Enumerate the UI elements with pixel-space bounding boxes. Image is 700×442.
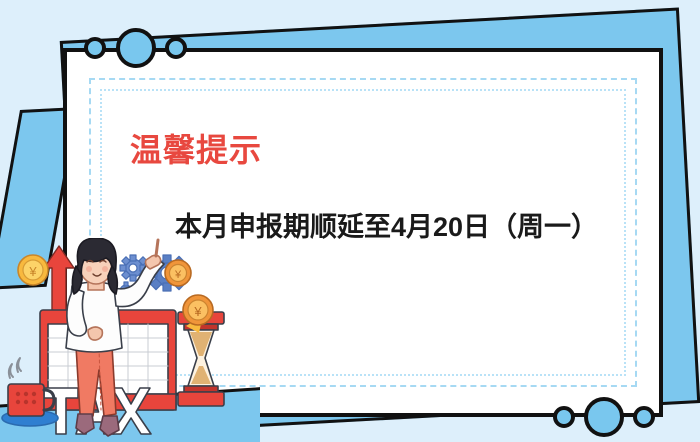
svg-text:¥: ¥ bbox=[174, 269, 182, 281]
svg-text:¥: ¥ bbox=[193, 304, 202, 319]
top-left-dot-small-2 bbox=[165, 37, 187, 59]
bottom-right-dot-large bbox=[584, 397, 624, 437]
bottom-right-dot-small-2 bbox=[633, 406, 655, 428]
bottom-right-dot-small bbox=[553, 406, 575, 428]
top-left-dot-small bbox=[84, 37, 106, 59]
gold-coin-upper: ¥ bbox=[165, 260, 191, 286]
top-left-dot-large bbox=[116, 28, 156, 68]
notice-title: 温馨提示 bbox=[130, 125, 262, 171]
notice-poster: 温馨提示 本月申报期顺延至4月20日（周一） bbox=[0, 0, 700, 442]
hourglass bbox=[178, 312, 224, 406]
tax-filing-illustration: ¥ bbox=[0, 238, 260, 442]
gold-coin-left: ¥ bbox=[18, 255, 48, 285]
svg-text:¥: ¥ bbox=[28, 264, 37, 279]
